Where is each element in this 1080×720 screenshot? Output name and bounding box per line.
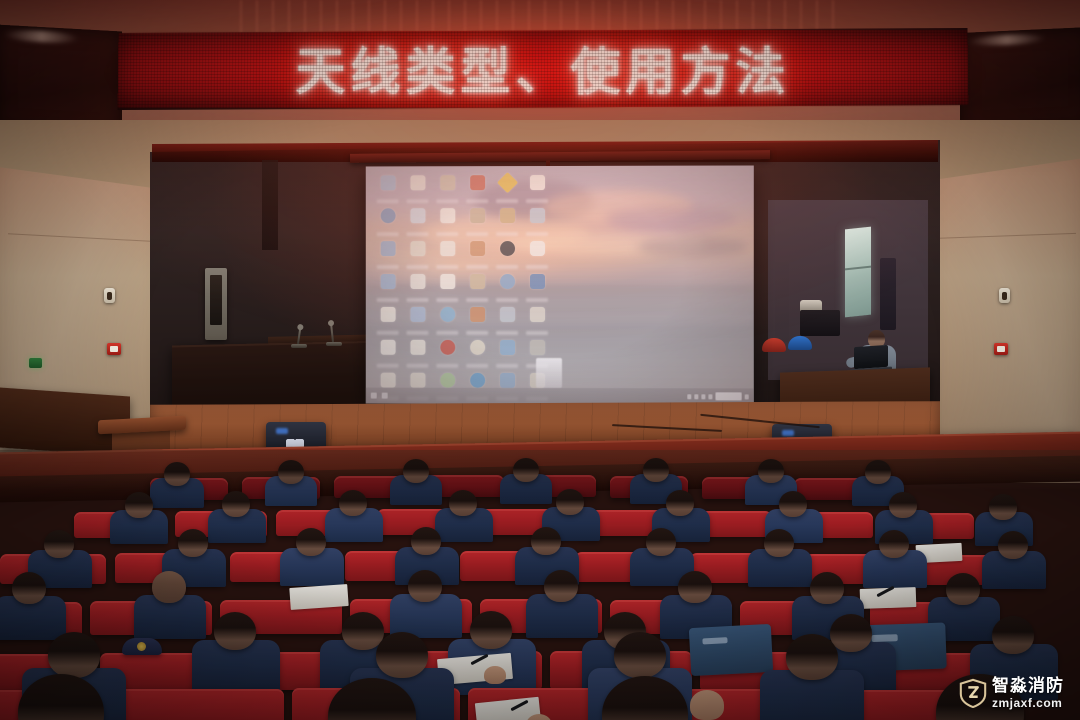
- notebook: [289, 584, 348, 610]
- brand-logo-icon: [958, 678, 988, 708]
- desktop-icon[interactable]: [462, 271, 492, 307]
- wall-panel-left: [0, 24, 122, 135]
- attendee-head: [178, 529, 208, 557]
- attendee-head: [214, 612, 256, 650]
- microphone-base: [291, 344, 307, 348]
- attendee-head: [44, 530, 74, 558]
- attendee-head: [643, 458, 669, 482]
- wall-dark-panel: [880, 258, 896, 330]
- desktop-icon[interactable]: [492, 205, 522, 241]
- desktop-icon[interactable]: [462, 304, 492, 340]
- desktop-icon[interactable]: [403, 238, 433, 274]
- back-wall-strip: [262, 160, 278, 250]
- speaker-icon: [999, 288, 1010, 303]
- attendee-head: [125, 492, 153, 518]
- panel-gloss-right: [968, 33, 1046, 47]
- attendee-head: [470, 611, 512, 649]
- panel-gloss-left: [4, 29, 80, 44]
- laptop-icon: [854, 345, 888, 369]
- blue-helmet-icon: [788, 336, 812, 350]
- attendee-head: [544, 570, 578, 602]
- attendee-head: [764, 529, 794, 557]
- microphone-base: [326, 342, 342, 346]
- attendee-head: [946, 573, 980, 605]
- window: [845, 227, 871, 318]
- fire-alarm-icon: [107, 343, 121, 355]
- attendee-head: [12, 572, 46, 604]
- desktop-icon[interactable]: [373, 271, 403, 307]
- attendee-head: [164, 462, 190, 486]
- attendee-head: [879, 530, 909, 558]
- led-banner: 天线类型、使用方法: [118, 28, 969, 110]
- speaker-icon: [104, 288, 115, 303]
- attendee-head: [666, 490, 694, 516]
- taskbar-buttons[interactable]: [371, 393, 388, 399]
- show-desktop-icon[interactable]: [745, 394, 749, 399]
- attendee-head: [810, 572, 844, 604]
- attendee-head: [889, 492, 917, 518]
- bag: [689, 624, 773, 676]
- hand: [484, 666, 506, 684]
- desktop-icon[interactable]: [373, 304, 403, 340]
- emergency-exit-sign-icon: [29, 358, 42, 368]
- desktop-icon[interactable]: [373, 172, 403, 208]
- attendee-head: [339, 490, 367, 516]
- attendee-head: [998, 531, 1028, 559]
- desktop-icon[interactable]: [432, 271, 462, 307]
- attendee-head: [152, 571, 186, 603]
- attendee-head: [376, 632, 428, 678]
- desktop-icon[interactable]: [403, 304, 433, 340]
- desktop-icon[interactable]: [492, 337, 522, 373]
- uniform-cap: [122, 638, 162, 655]
- led-banner-board: 天线类型、使用方法: [118, 28, 969, 110]
- attendee-head: [513, 458, 539, 482]
- desktop-icon[interactable]: [403, 337, 433, 373]
- desktop-icon[interactable]: [432, 172, 462, 208]
- attendee-head: [48, 632, 100, 678]
- desktop-icon[interactable]: [522, 304, 552, 340]
- desktop-icon[interactable]: [373, 238, 403, 274]
- desktop-icon[interactable]: [522, 205, 552, 241]
- taskbar[interactable]: [366, 388, 754, 405]
- hand: [690, 690, 724, 720]
- desktop-icon[interactable]: [373, 337, 403, 373]
- audience-area: [0, 450, 1080, 720]
- attendee-head: [758, 459, 784, 483]
- desktop-icon[interactable]: [432, 304, 462, 340]
- desktop-icon[interactable]: [492, 271, 522, 307]
- desktop-icon[interactable]: [462, 205, 492, 241]
- desktop-icon[interactable]: [462, 172, 492, 208]
- wall-panel-right: [960, 27, 1080, 133]
- attendee-head: [411, 527, 441, 555]
- attendee-head: [531, 527, 561, 555]
- attendee-head: [556, 489, 584, 515]
- projection-screen[interactable]: [366, 166, 754, 405]
- attendee-head: [989, 494, 1017, 520]
- attendee-head: [278, 460, 304, 484]
- watermark-brand: 智淼消防: [992, 678, 1064, 695]
- desktop-icon[interactable]: [373, 205, 403, 241]
- attendee-head: [786, 634, 838, 680]
- system-tray[interactable]: [687, 392, 748, 400]
- desktop-icon[interactable]: [432, 238, 462, 274]
- seat[interactable]: [116, 689, 284, 720]
- desktop-icon[interactable]: [492, 304, 522, 340]
- red-helmet-icon: [762, 338, 786, 352]
- taskbar-item[interactable]: [371, 393, 377, 399]
- attendee-head: [222, 491, 250, 517]
- desktop-icon[interactable]: [462, 337, 492, 373]
- desktop-icon[interactable]: [522, 271, 552, 307]
- taskbar-item[interactable]: [382, 393, 388, 399]
- attendee-head: [449, 490, 477, 516]
- attendee-head: [830, 614, 872, 652]
- desktop-icon[interactable]: [403, 205, 433, 241]
- desktop-icon[interactable]: [492, 238, 522, 274]
- fire-alarm-icon: [994, 343, 1008, 355]
- open-window-preview[interactable]: [536, 358, 562, 388]
- wall-av-panel: [205, 268, 227, 340]
- attendee-head: [403, 459, 429, 483]
- monitor-icon: [800, 310, 840, 336]
- attendee-head: [992, 616, 1034, 654]
- desktop-icon[interactable]: [403, 271, 433, 307]
- tray-icon[interactable]: [708, 394, 712, 399]
- attendee-head: [678, 571, 712, 603]
- attendee-head: [296, 528, 326, 556]
- tray-icon[interactable]: [687, 394, 691, 399]
- attendee-head: [865, 460, 891, 484]
- tray-icon[interactable]: [701, 394, 705, 399]
- desktop-icon[interactable]: [432, 205, 462, 241]
- tray-icon[interactable]: [694, 394, 698, 399]
- led-pixel-grid: [118, 30, 969, 108]
- watermark-url: zmjaxf.com: [992, 697, 1064, 709]
- podium-top: [98, 416, 186, 435]
- desktop-icon[interactable]: [432, 337, 462, 373]
- desktop-icon[interactable]: [492, 172, 522, 208]
- attendee-head: [779, 491, 807, 517]
- desktop-icon-grid[interactable]: [373, 172, 552, 403]
- desktop-icon[interactable]: [522, 172, 552, 208]
- attendee-head: [614, 632, 666, 678]
- watermark-text: 智淼消防 zmjaxf.com: [992, 678, 1064, 709]
- attendee-head: [408, 570, 442, 602]
- auditorium-scene: 天线类型、使用方法: [0, 0, 1080, 720]
- taskbar-clock[interactable]: [715, 392, 741, 400]
- desktop-icon[interactable]: [522, 238, 552, 274]
- desktop-icon[interactable]: [462, 238, 492, 274]
- attendee-head: [646, 528, 676, 556]
- cloud-shape: [637, 237, 748, 257]
- desktop-icon[interactable]: [403, 172, 433, 208]
- cloud-shape: [606, 206, 737, 232]
- watermark: 智淼消防 zmjaxf.com: [958, 670, 1076, 716]
